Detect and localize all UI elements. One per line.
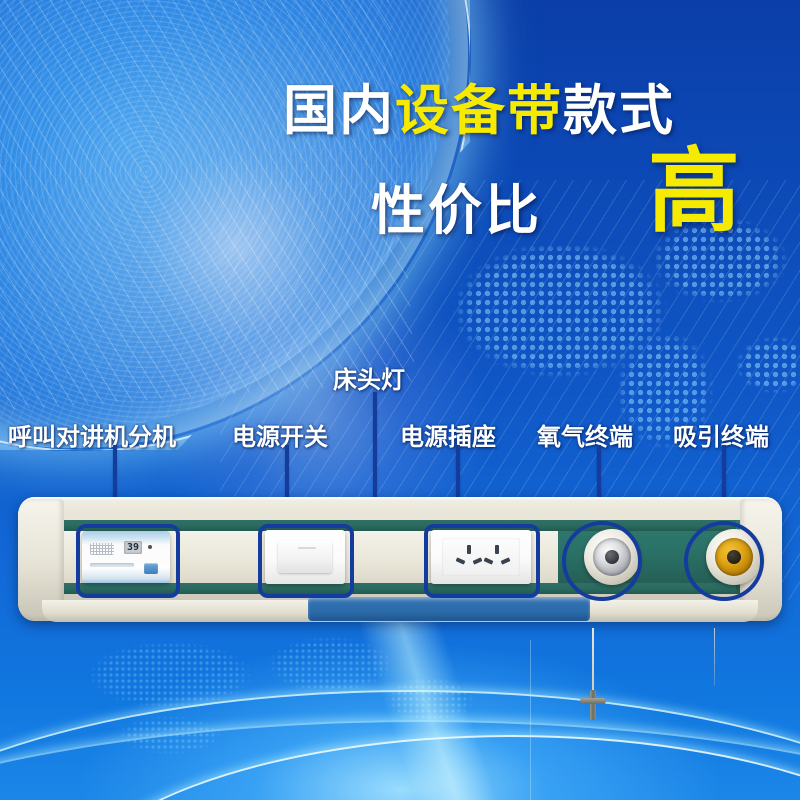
pull-cord[interactable]	[592, 628, 594, 696]
cord-weight-crossbar	[580, 698, 606, 704]
callout-label-power-socket: 电源插座	[400, 417, 496, 452]
headline-block: 国内设备带款式 性价比	[283, 84, 783, 138]
panel-blue-rail	[308, 597, 590, 621]
pull-cord-secondary	[714, 628, 715, 686]
vertical-grid-line	[530, 640, 531, 800]
callout-label-power-switch: 电源开关	[232, 417, 328, 452]
headline-emphasis-gao: 高	[648, 146, 740, 238]
promo-image-canvas: 国内设备带款式 性价比 高 呼叫对讲机分机 电源开关 床头灯 电源插座 氧气终端…	[0, 0, 800, 800]
callout-label-oxygen-terminal: 氧气终端	[537, 417, 633, 452]
highlight-box-call-intercom	[76, 524, 180, 598]
pull-cord-weight	[580, 690, 606, 720]
callout-label-call-intercom-extension: 呼叫对讲机分机	[8, 417, 176, 452]
headline-part-2: 设备带	[395, 81, 563, 141]
highlight-box-power-switch	[258, 524, 354, 598]
headline-part-1: 国内	[283, 81, 395, 141]
highlight-circle-oxygen-terminal	[562, 521, 642, 601]
highlight-circle-suction-terminal	[684, 521, 764, 601]
headline-row-1: 国内设备带款式	[283, 84, 783, 138]
cord-weight-stem	[590, 690, 596, 720]
headline-part-3: 款式	[563, 81, 675, 141]
callout-label-suction-terminal: 吸引终端	[673, 417, 769, 452]
highlight-box-power-socket	[424, 524, 540, 598]
headline-row-2: 性价比	[371, 166, 542, 245]
callout-label-bedside-lamp: 床头灯	[333, 360, 405, 395]
